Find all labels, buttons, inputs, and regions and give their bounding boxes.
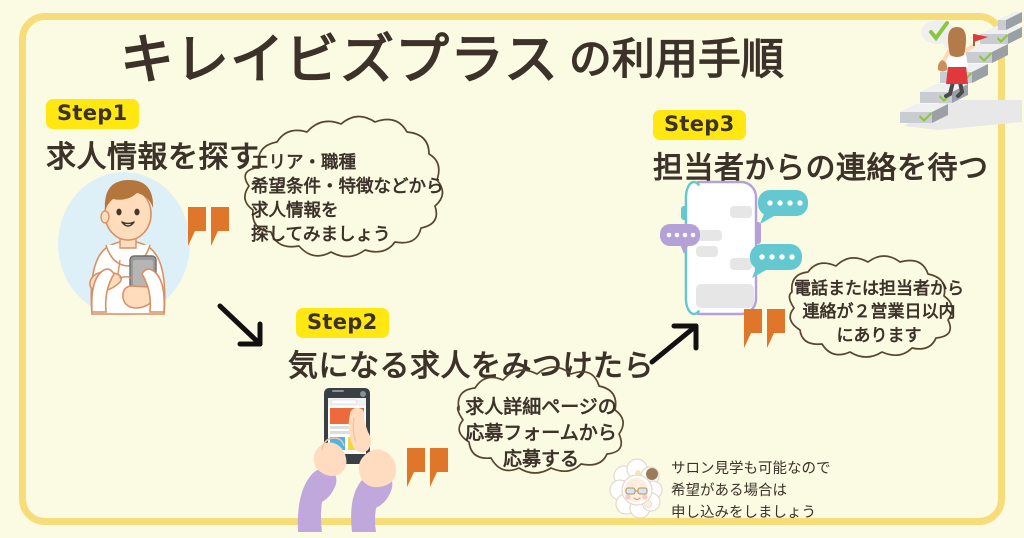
cloud-line: 応募フォームから (451, 420, 631, 446)
arrow-down-right-icon (214, 300, 284, 364)
page-title-sub: の利用手順 (569, 39, 784, 82)
step-3-badge: Step3 (653, 110, 746, 140)
footnote-line: 希望がある場合は (671, 481, 831, 503)
cloud-line: 応募する (451, 446, 631, 472)
arrow-up-right-icon (648, 318, 718, 374)
step-3-block: Step3 担当者からの連絡を待つ (653, 110, 989, 187)
sheep-mascot-icon (606, 456, 668, 518)
quote-mark-icon (188, 207, 232, 249)
step-1-badge: Step1 (46, 99, 139, 129)
quote-mark-icon (744, 309, 788, 351)
footnote-text: サロン見学も可能なので 希望がある場合は 申し込みをしましょう (671, 459, 831, 524)
cloud-line: にあります (788, 325, 970, 348)
cloud-line: 求人詳細ページの (451, 394, 631, 420)
cloud-line: 探してみましょう (251, 223, 444, 247)
step-2-cloud-text: 求人詳細ページの 応募フォームから 応募する (451, 394, 631, 473)
infographic-page: キレイビズプラス の利用手順 (0, 0, 1024, 538)
page-title: キレイビズプラス の利用手順 (120, 24, 910, 96)
step-1-cloud-text: エリア・職種 希望条件・特徴などから 求人情報を 探してみましょう (251, 151, 444, 248)
footnote-line: 申し込みをしましょう (671, 503, 831, 525)
cloud-line: 求人情報を (251, 199, 444, 223)
cloud-line: 希望条件・特徴などから (251, 175, 444, 199)
cloud-line: エリア・職種 (251, 151, 444, 175)
step-1-cloud-bubble: エリア・職種 希望条件・特徴などから 求人情報を 探してみましょう (225, 132, 465, 284)
step-2-badge: Step2 (296, 308, 389, 338)
cloud-line: 連絡が２営業日以内 (788, 301, 970, 324)
footnote-line: サロン見学も可能なので (671, 459, 831, 481)
step-3-cloud-bubble: 電話または担当者から 連絡が２営業日以内 にあります (762, 264, 994, 378)
quote-mark-icon (407, 448, 451, 490)
cloud-line: 電話または担当者から (788, 278, 970, 301)
page-title-main: キレイビズプラス (120, 33, 559, 87)
step-3-cloud-text: 電話または担当者から 連絡が２営業日以内 にあります (788, 278, 970, 348)
